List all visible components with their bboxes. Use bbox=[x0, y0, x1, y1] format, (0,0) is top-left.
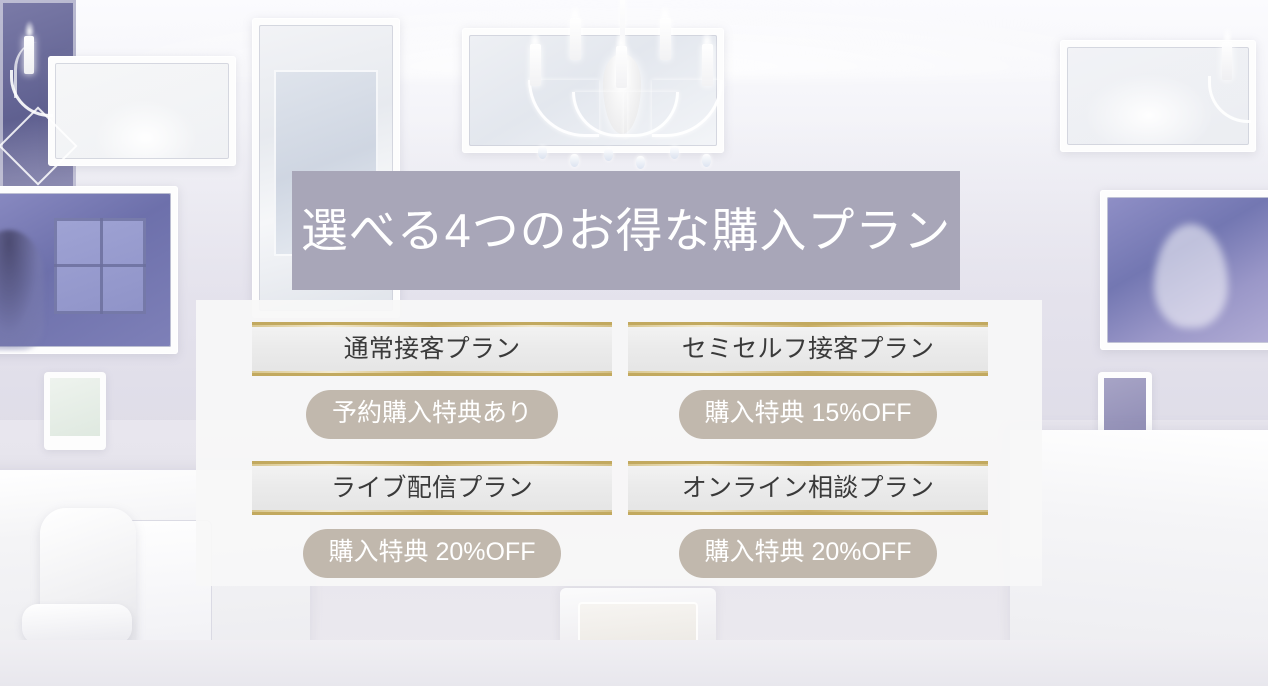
plan-card-header: セミセルフ接客プラン bbox=[628, 322, 988, 376]
sconce-flame bbox=[1222, 26, 1233, 42]
wall-mirror-top-left bbox=[48, 56, 236, 166]
chandelier-crystal bbox=[670, 146, 679, 159]
plan-name: オンライン相談プラン bbox=[682, 476, 935, 501]
plan-card-grid: 通常接客プラン 予約購入特典あり セミセルフ接客プラン 購入特典 15%OFF … bbox=[252, 322, 988, 578]
sconce-candle bbox=[24, 36, 34, 74]
framed-display-left bbox=[0, 186, 178, 354]
headline-band: 選べる4つのお得な購入プラン bbox=[292, 171, 960, 290]
plan-benefit-badge: 予約購入特典あり bbox=[306, 390, 558, 439]
promo-banner: 選べる4つのお得な購入プラン 通常接客プラン 予約購入特典あり セミセルフ接客プ… bbox=[0, 0, 1268, 686]
salon-chair bbox=[40, 508, 136, 658]
chandelier-arm bbox=[652, 80, 723, 137]
plans-panel: 通常接客プラン 予約購入特典あり セミセルフ接客プラン 購入特典 15%OFF … bbox=[196, 300, 1042, 586]
chandelier-candle bbox=[660, 18, 671, 60]
plan-card-online-consultation[interactable]: オンライン相談プラン 購入特典 20%OFF bbox=[628, 461, 988, 578]
chandelier-crystal bbox=[538, 146, 547, 159]
plan-benefit-row: 購入特典 15%OFF bbox=[628, 390, 988, 439]
floor bbox=[0, 640, 1268, 686]
chair-seat bbox=[22, 604, 132, 644]
sconce-scrollwork bbox=[10, 70, 53, 117]
sconce-scrollwork bbox=[1208, 76, 1251, 123]
plan-card-header: 通常接客プラン bbox=[252, 322, 612, 376]
plan-card-normal[interactable]: 通常接客プラン 予約購入特典あり bbox=[252, 322, 612, 439]
chandelier-flame bbox=[615, 32, 627, 48]
person-silhouette-right bbox=[1154, 224, 1228, 328]
plan-card-live-streaming[interactable]: ライブ配信プラン 購入特典 20%OFF bbox=[252, 461, 612, 578]
page-title: 選べる4つのお得な購入プラン bbox=[301, 207, 951, 254]
sconce-candle bbox=[1222, 42, 1232, 80]
chandelier-crystal bbox=[604, 148, 613, 161]
chandelier-flame bbox=[659, 4, 671, 20]
wall-sconce-left bbox=[8, 22, 54, 142]
wall-sconce-right bbox=[1206, 28, 1252, 148]
plan-benefit-row: 購入特典 20%OFF bbox=[252, 529, 612, 578]
plan-name: 通常接客プラン bbox=[344, 337, 521, 362]
plan-benefit-badge: 購入特典 15%OFF bbox=[679, 390, 938, 439]
sconce-flame bbox=[24, 20, 35, 36]
plan-card-header: オンライン相談プラン bbox=[628, 461, 988, 515]
plan-benefit-row: 購入特典 20%OFF bbox=[628, 529, 988, 578]
plan-benefit-row: 予約購入特典あり bbox=[252, 390, 612, 439]
plan-benefit-badge: 購入特典 20%OFF bbox=[679, 529, 938, 578]
chandelier-flame bbox=[569, 4, 581, 20]
chandelier-candle bbox=[702, 44, 713, 86]
chandelier-candle bbox=[570, 18, 581, 60]
chandelier-flame bbox=[701, 30, 713, 46]
plan-card-header: ライブ配信プラン bbox=[252, 461, 612, 515]
person-silhouette-left bbox=[0, 230, 44, 350]
chandelier-crystal bbox=[702, 154, 711, 167]
chandelier-crystal bbox=[570, 154, 579, 167]
plan-benefit-badge: 購入特典 20%OFF bbox=[303, 529, 562, 578]
chandelier-crystal bbox=[636, 156, 645, 169]
plan-name: セミセルフ接客プラン bbox=[682, 337, 935, 362]
chandelier-candle bbox=[616, 46, 627, 88]
framed-display-right bbox=[1100, 190, 1268, 350]
vanity-mirror-left bbox=[44, 372, 106, 450]
plan-name: ライブ配信プラン bbox=[331, 476, 533, 501]
chandelier bbox=[512, 0, 732, 168]
chandelier-candle bbox=[530, 44, 541, 86]
chandelier-flame bbox=[529, 30, 541, 46]
window-reflection-left bbox=[54, 218, 146, 314]
plan-card-semi-self[interactable]: セミセルフ接客プラン 購入特典 15%OFF bbox=[628, 322, 988, 439]
